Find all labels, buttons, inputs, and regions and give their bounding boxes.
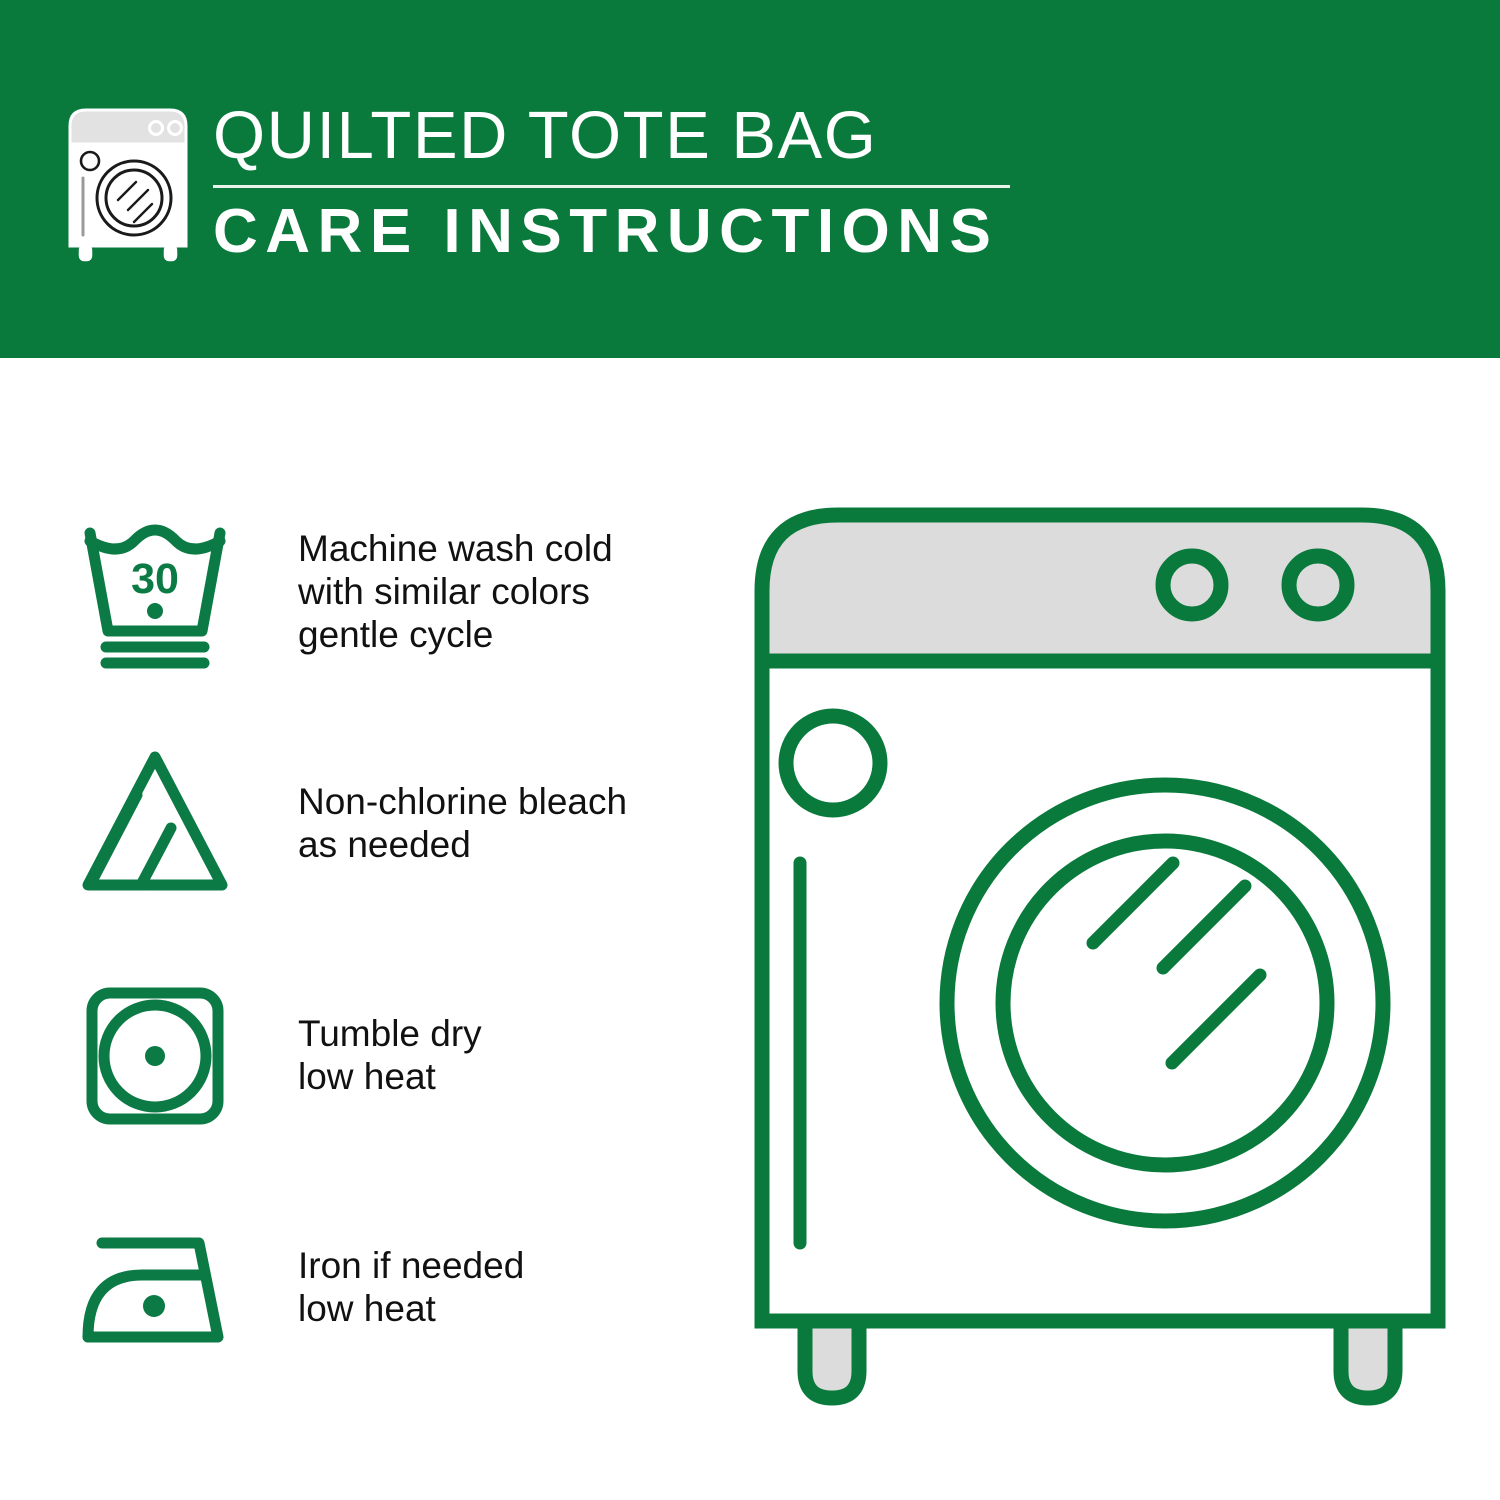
leg-right — [1341, 1321, 1395, 1398]
list-item-label: Iron if needed low heat — [298, 1244, 524, 1330]
washing-machine-illustration — [740, 493, 1460, 1423]
list-item: 30 Machine wash cold with similar colors… — [70, 506, 710, 676]
page-title: QUILTED TOTE BAG — [213, 100, 1013, 172]
list-item-label: Machine wash cold with similar colors ge… — [298, 527, 613, 656]
machine-wash-30-icon: 30 — [70, 511, 240, 671]
list-item: Tumble dry low heat — [70, 970, 710, 1140]
washer-body — [762, 661, 1438, 1321]
title-divider — [213, 185, 1010, 188]
wash-temperature-value: 30 — [131, 555, 179, 603]
header-banner: QUILTED TOTE BAG CARE INSTRUCTIONS — [0, 0, 1500, 358]
care-instruction-list: 30 Machine wash cold with similar colors… — [70, 506, 710, 1372]
knob-right — [1289, 556, 1347, 614]
leg-left — [805, 1321, 859, 1398]
washing-machine-icon — [62, 104, 194, 264]
iron-low-heat-icon — [70, 1207, 240, 1367]
page-subtitle: CARE INSTRUCTIONS — [213, 198, 1013, 266]
list-item: Non-chlorine bleach as needed — [70, 738, 710, 908]
list-item-label: Tumble dry low heat — [298, 1012, 482, 1098]
content-area: 30 Machine wash cold with similar colors… — [0, 358, 1500, 1500]
tumble-dry-low-icon — [70, 975, 240, 1135]
non-chlorine-bleach-icon — [70, 743, 240, 903]
list-item-label: Non-chlorine bleach as needed — [298, 780, 627, 866]
header-title-group: QUILTED TOTE BAG CARE INSTRUCTIONS — [213, 100, 1013, 266]
knob-left — [1163, 556, 1221, 614]
list-item: Iron if needed low heat — [70, 1202, 710, 1372]
